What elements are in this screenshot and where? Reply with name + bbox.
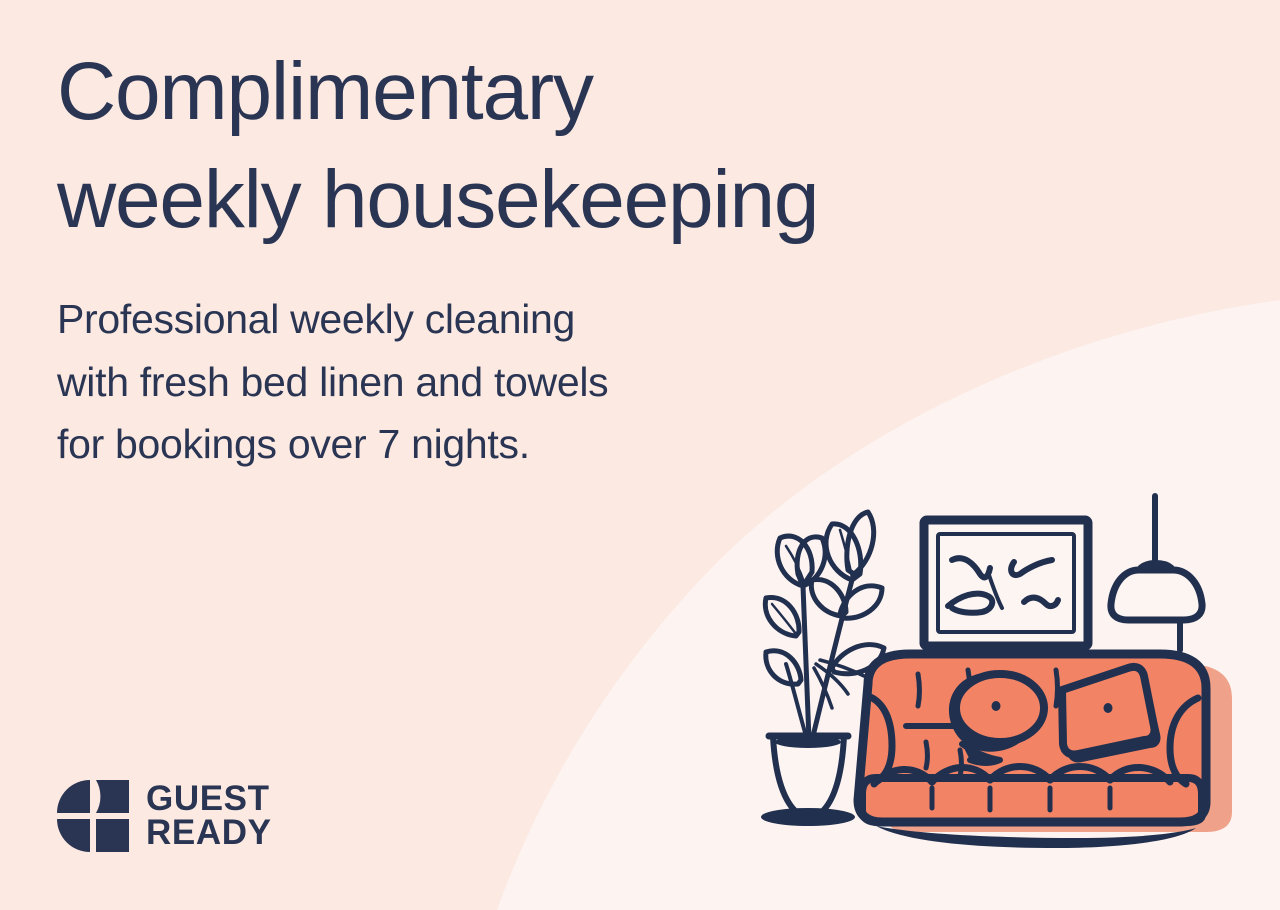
page-title: Complimentary weekly housekeeping	[57, 38, 1057, 254]
logo-line-ready: READY	[146, 816, 272, 850]
guestready-logo[interactable]: GUEST READY	[57, 780, 272, 852]
coral-sofa-icon	[858, 654, 1232, 848]
subtitle: Professional weekly cleaning with fresh …	[57, 288, 1057, 475]
guestready-mark-icon	[57, 780, 129, 852]
promo-banner: Complimentary weekly housekeeping Profes…	[0, 0, 1280, 910]
framed-picture-icon	[924, 520, 1088, 646]
living-room-illustration	[756, 468, 1256, 868]
guestready-wordmark: GUEST READY	[146, 782, 272, 851]
pendant-lamp-icon	[1111, 496, 1202, 650]
copy-block: Complimentary weekly housekeeping Profes…	[57, 38, 1057, 475]
logo-line-guest: GUEST	[146, 782, 272, 816]
